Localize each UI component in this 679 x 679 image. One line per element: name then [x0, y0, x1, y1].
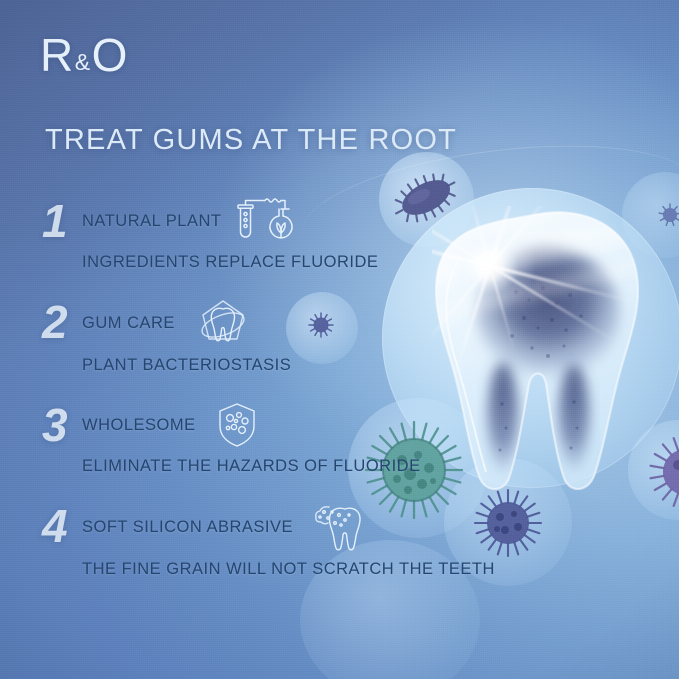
- feature-line2-3: ELIMINATE THE HAZARDS OF FLUORIDE: [82, 457, 468, 475]
- feature-line1-1: NATURAL PLANT: [82, 212, 221, 230]
- feature-item-4: 4 SOFT SILICON ABRASIVE: [38, 501, 468, 578]
- feature-number-3: 3: [42, 402, 68, 448]
- logo-letter-r: R: [40, 32, 74, 78]
- feature-line2-1: INGREDIENTS REPLACE FLUORIDE: [82, 253, 468, 271]
- feature-line1-2: GUM CARE: [82, 314, 175, 332]
- feature-line2-2: PLANT BACTERIOSTASIS: [82, 356, 468, 374]
- shield-bubbles-icon: [214, 400, 260, 450]
- brand-logo: R & O: [40, 32, 128, 78]
- feature-number-4: 4: [42, 503, 68, 549]
- tooth-orbit-shield-icon: [195, 297, 251, 349]
- feature-item-3: 3 WHOLESOME: [38, 400, 468, 475]
- feature-number-2: 2: [42, 299, 68, 345]
- feature-item-1: 1 NATURAL PLANT: [38, 196, 468, 271]
- tooth-fine-grain-icon: [311, 501, 369, 553]
- logo-ampersand: &: [74, 51, 92, 78]
- poster-canvas: R & O TREAT GUMS AT THE ROOT 1 NATURAL P…: [0, 0, 679, 679]
- flask-test-tube-leaf-icon: [231, 196, 293, 246]
- feature-line1-3: WHOLESOME: [82, 416, 196, 434]
- logo-letter-o: O: [92, 32, 128, 78]
- feature-list: 1 NATURAL PLANT: [38, 196, 468, 605]
- feature-line2-4: THE FINE GRAIN WILL NOT SCRATCH THE TEET…: [82, 560, 468, 578]
- page-title: TREAT GUMS AT THE ROOT: [45, 124, 457, 157]
- feature-number-1: 1: [42, 198, 68, 244]
- feature-item-2: 2 GUM CARE: [38, 297, 468, 374]
- feature-line1-4: SOFT SILICON ABRASIVE: [82, 518, 293, 536]
